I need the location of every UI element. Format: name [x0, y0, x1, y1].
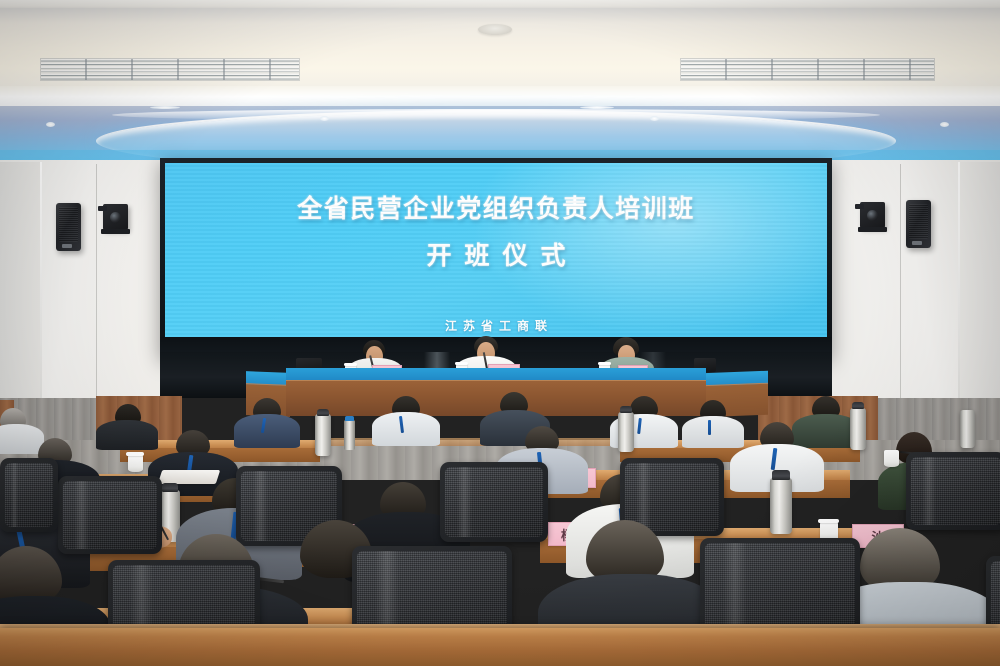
cup-icon	[884, 450, 899, 467]
cup-lid	[455, 362, 468, 365]
air-vent-icon	[40, 58, 300, 81]
cup-lid	[598, 362, 611, 365]
thermos-icon	[850, 408, 866, 450]
led-screen-surface: 全省民营企业党组织负责人培训班 开班仪式 江苏省工商联 2024年9月3日·南通	[165, 163, 827, 337]
ceiling-light-icon	[580, 106, 614, 109]
ceiling-light-icon	[46, 122, 55, 127]
ceiling-light-icon	[478, 24, 512, 35]
thermos-cap	[772, 470, 790, 480]
conference-room-photo: 全省民营企业党组织负责人培训班 开班仪式 江苏省工商联 2024年9月3日·南通	[0, 0, 1000, 666]
audience-chair	[440, 462, 548, 542]
notebook	[158, 470, 221, 484]
ceiling-light-icon	[650, 116, 659, 121]
air-vent-icon	[680, 58, 935, 81]
camera-lens	[867, 210, 878, 221]
chair-mesh-back	[5, 463, 53, 527]
foreground-desk	[0, 628, 1000, 666]
audience-chair	[0, 458, 58, 532]
audience-chair	[58, 476, 162, 554]
lanyard	[708, 420, 711, 435]
camera-base	[858, 227, 887, 232]
speaker-badge	[62, 244, 72, 248]
chair-mesh-back	[911, 457, 1000, 525]
person-torso	[234, 414, 300, 448]
screen-organization: 江苏省工商联	[445, 317, 553, 334]
screen-title: 全省民营企业党组织负责人培训班	[297, 189, 695, 225]
audience-chair	[906, 452, 1000, 530]
ceiling-light-icon	[940, 122, 949, 127]
person-torso	[0, 424, 44, 454]
thermos-icon	[770, 478, 792, 534]
chair-mesh-back	[63, 481, 157, 549]
thermos-cap	[317, 409, 329, 416]
speaker-icon	[906, 200, 931, 248]
camera-icon	[860, 202, 885, 228]
thermos-icon	[618, 412, 634, 452]
ceiling-light-icon	[320, 116, 329, 121]
thermos-cap	[852, 402, 864, 409]
person-torso	[372, 412, 440, 446]
ceiling-light-icon	[150, 106, 180, 109]
camera-lens	[110, 212, 121, 223]
person-torso	[682, 416, 744, 448]
chair-mesh-back	[625, 463, 719, 531]
camera-mount-arm	[855, 204, 864, 209]
thermos-icon	[960, 410, 975, 448]
speaker-icon	[56, 203, 81, 251]
led-display-screen: 全省民营企业党组织负责人培训班 开班仪式 江苏省工商联 2024年9月3日·南通	[160, 158, 832, 358]
camera-mount-arm	[98, 206, 107, 211]
camera-icon	[103, 204, 128, 230]
cup-lid	[126, 452, 144, 456]
screen-subtitle: 开班仪式	[426, 236, 578, 272]
bottle-icon	[344, 420, 355, 450]
bottle-cap	[345, 416, 354, 421]
thermos-cap	[620, 406, 632, 413]
cup-lid	[344, 363, 357, 366]
camera-base	[101, 229, 130, 234]
thermos-cap	[162, 483, 178, 492]
cup-lid	[818, 519, 839, 523]
cup-icon	[128, 455, 143, 472]
chair-mesh-back	[445, 467, 543, 537]
speaker-badge	[912, 241, 922, 245]
thermos-icon	[315, 414, 331, 456]
person-torso	[96, 420, 158, 450]
